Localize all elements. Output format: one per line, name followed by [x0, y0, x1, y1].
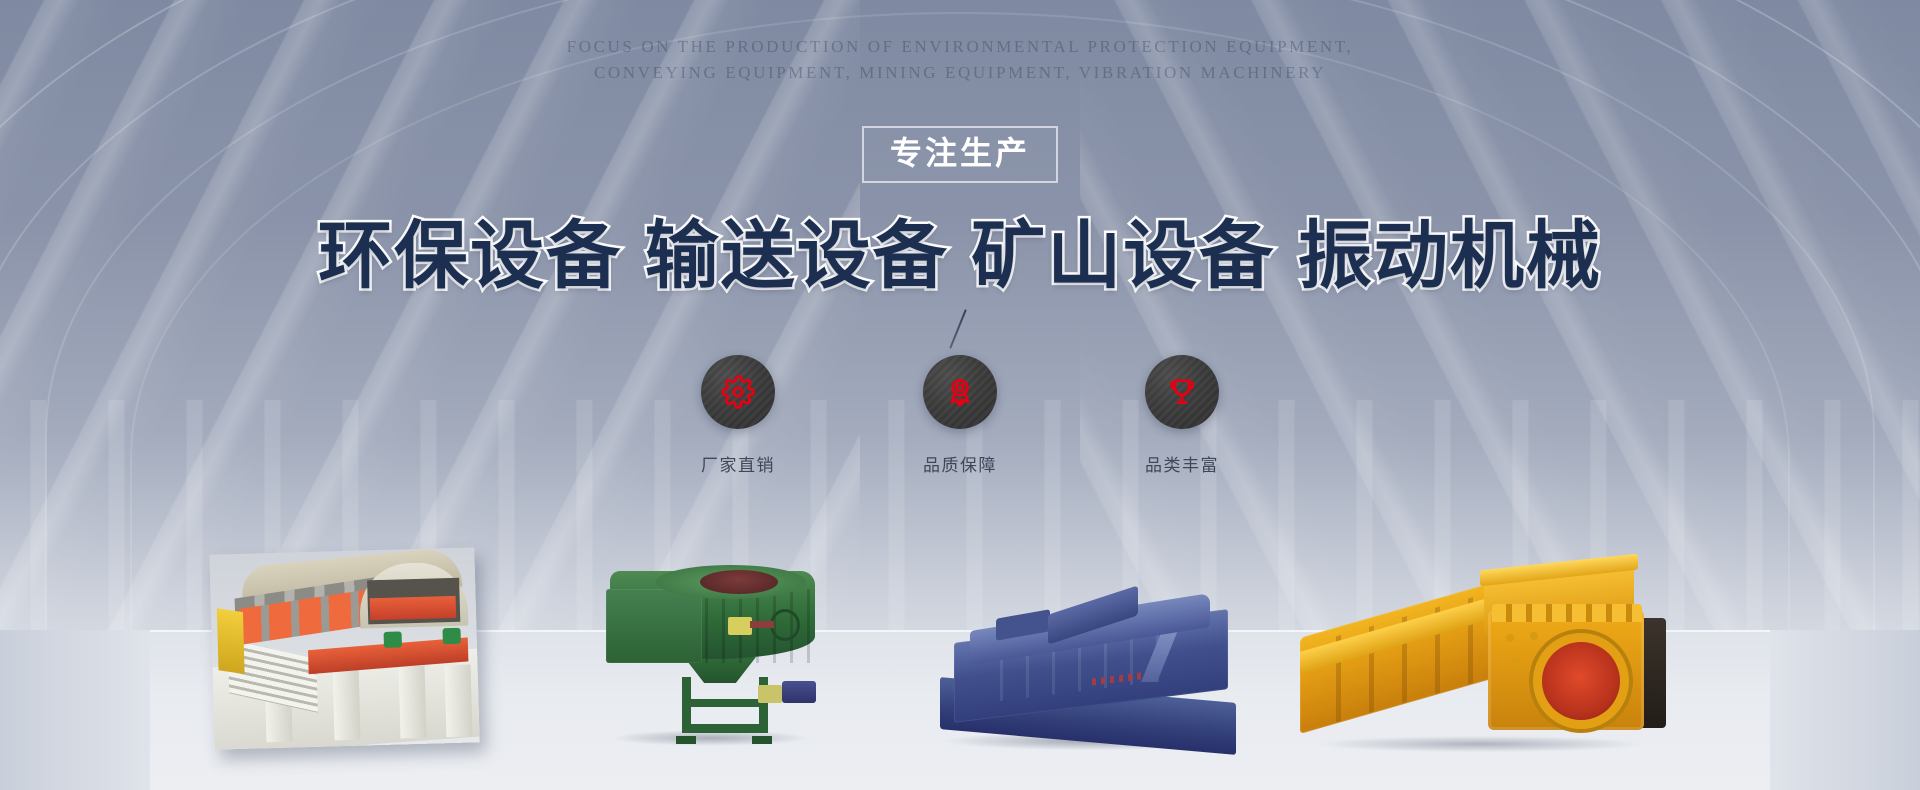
page-title: 环保设备 输送设备 矿山设备 振动机械: [0, 196, 1920, 303]
machine-part: [682, 677, 768, 733]
machine-part: [399, 666, 427, 739]
feature-item-quality-assurance: 品质保障: [885, 355, 1035, 476]
hero-banner: FOCUS ON THE PRODUCTION OF ENVIRONMENTAL…: [0, 0, 1920, 790]
machine-part: [217, 608, 245, 674]
feature-item-factory-direct: 厂家直销: [663, 355, 813, 476]
machine-part: [700, 570, 778, 594]
machine-image-environmental-protection-equipment: [209, 547, 479, 749]
machine-image-disc-feeder-equipment: [600, 565, 822, 740]
machine-part: [770, 609, 800, 641]
machine-part: [333, 668, 361, 741]
gear-icon: [721, 375, 755, 409]
machine-part: [442, 628, 460, 644]
trophy-icon: [1165, 375, 1199, 409]
machine-part: [750, 621, 774, 628]
machine-part: [758, 685, 782, 703]
focus-production-badge: 专注生产: [862, 126, 1058, 183]
feature-icon-circle: [923, 355, 997, 429]
machine-part: [1542, 642, 1620, 720]
machine-image-vibrating-screen-equipment: [940, 582, 1240, 742]
machine-shadow: [1320, 736, 1640, 752]
machine-part: [782, 681, 816, 703]
feature-list: 厂家直销 品质保障: [0, 355, 1920, 476]
feature-icon-circle: [701, 355, 775, 429]
machine-image-vibrating-feeder-equipment: [1300, 556, 1660, 746]
machine-part: [445, 664, 473, 737]
machine-gallery: [0, 460, 1920, 790]
machine-part: [606, 589, 702, 663]
feature-icon-circle: [1145, 355, 1219, 429]
machine-part: [752, 736, 772, 744]
medal-icon: [943, 375, 977, 409]
banner-subtitle: FOCUS ON THE PRODUCTION OF ENVIRONMENTAL…: [0, 34, 1920, 86]
machine-part: [370, 596, 457, 620]
machine-part: [676, 736, 696, 744]
badge-container: 专注生产: [0, 126, 1920, 183]
feature-item-rich-variety: 品类丰富: [1107, 355, 1257, 476]
machine-part: [1492, 604, 1642, 622]
machine-part: [384, 631, 402, 647]
machine-part: [728, 617, 752, 635]
